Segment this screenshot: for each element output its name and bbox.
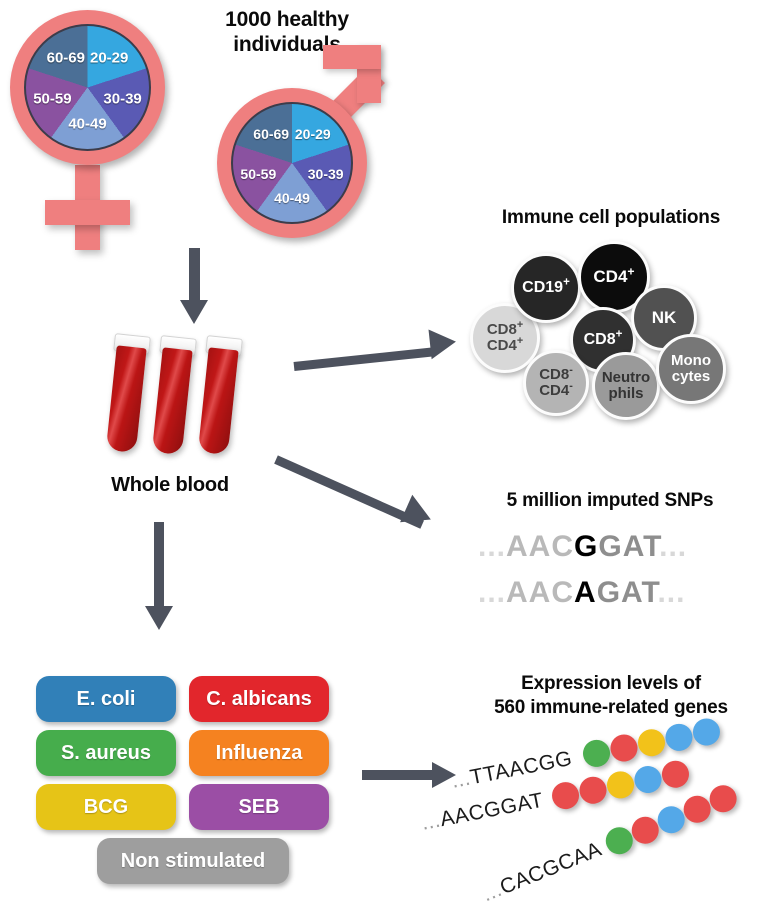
- snp-suffix-ellipsis: ...: [657, 576, 685, 609]
- expression-sequence-text: ...CACGCAA: [479, 838, 605, 908]
- immune-cell-label: CD8-CD4-: [539, 367, 573, 399]
- immune-cell-label: CD19+: [522, 280, 570, 297]
- expression-bead: [608, 732, 640, 764]
- snp-variant-base: A: [574, 576, 597, 609]
- expression-title-line-1: Expression levels of: [452, 672, 770, 696]
- expression-bead: [660, 758, 692, 790]
- stimulus-box-s-aureus[interactable]: S. aureus: [36, 730, 176, 776]
- arrow-blood-to-immune-head: [429, 327, 458, 360]
- immune-cell-label: CD4+: [593, 268, 634, 286]
- snp-sequence-block: ...AACGGAT......AACAGAT...: [478, 530, 758, 620]
- expression-bead: [605, 769, 637, 801]
- stimulus-label: Non stimulated: [121, 850, 265, 873]
- snp-right-bases: GAT: [597, 576, 658, 609]
- stimulus-box-e-coli[interactable]: E. coli: [36, 676, 176, 722]
- section-title-expression: Expression levels of 560 immune-related …: [452, 672, 770, 720]
- expression-bead: [636, 727, 668, 759]
- snp-sequence-row: ...AACAGAT...: [478, 576, 685, 610]
- immune-cell-label: CD8+: [584, 332, 623, 349]
- expression-bead: [632, 764, 664, 796]
- immune-cell-label: Neutrophils: [602, 370, 650, 402]
- expression-bead: [581, 738, 613, 770]
- stimuli-panel: E. coliC. albicansS. aureusInfluenzaBCGS…: [0, 0, 400, 922]
- arrow-stimuli-to-expression-line: [362, 770, 437, 780]
- stimulus-box-influenza[interactable]: Influenza: [189, 730, 329, 776]
- expression-bead: [577, 774, 609, 806]
- stimulus-label: Influenza: [216, 742, 303, 765]
- expression-bead: [691, 716, 723, 748]
- expression-strands: ...TTAACGG...AACGGAT...CACGCAA: [440, 720, 771, 920]
- immune-cell-cd19: CD19+: [511, 253, 581, 323]
- stimulus-label: C. albicans: [206, 688, 312, 711]
- section-title-immune-cells: Immune cell populations: [452, 207, 770, 229]
- snp-prefix-ellipsis: ...: [478, 530, 506, 563]
- immune-cell-cd8-cd4: CD8-CD4-: [523, 350, 589, 416]
- immune-cell-label: Monocytes: [671, 353, 711, 385]
- snp-left-bases: AAC: [506, 576, 574, 609]
- snp-left-bases: AAC: [506, 530, 574, 563]
- immune-cell-neutrophils: Neutrophils: [592, 352, 660, 420]
- snp-sequence-row: ...AACGGAT...: [478, 530, 687, 564]
- snp-right-bases: GAT: [598, 530, 659, 563]
- stimulus-label: E. coli: [77, 688, 136, 711]
- section-title-snps: 5 million imputed SNPs: [460, 490, 760, 512]
- stimulus-box-bcg[interactable]: BCG: [36, 784, 176, 830]
- stimulus-box-c-albicans[interactable]: C. albicans: [189, 676, 329, 722]
- expression-bead: [663, 722, 695, 754]
- stimulus-label: BCG: [84, 796, 128, 819]
- arrow-blood-to-snp-head: [400, 495, 437, 533]
- expression-bead: [550, 780, 582, 812]
- snp-prefix-ellipsis: ...: [478, 576, 506, 609]
- immune-cell-label: CD8+CD4+: [487, 322, 523, 354]
- expression-sequence-text: ...AACGGAT: [420, 789, 546, 836]
- immune-cell-monocytes: Monocytes: [656, 334, 726, 404]
- stimulus-box-seb[interactable]: SEB: [189, 784, 329, 830]
- snp-variant-base: G: [574, 530, 598, 563]
- stimulus-label: SEB: [238, 796, 279, 819]
- immune-cell-label: NK: [652, 309, 677, 327]
- stimulus-box-non-stimulated[interactable]: Non stimulated: [97, 838, 289, 884]
- figure-canvas: 1000 healthy individuals Immune cell pop…: [0, 0, 771, 922]
- snp-suffix-ellipsis: ...: [659, 530, 687, 563]
- stimulus-label: S. aureus: [61, 742, 151, 765]
